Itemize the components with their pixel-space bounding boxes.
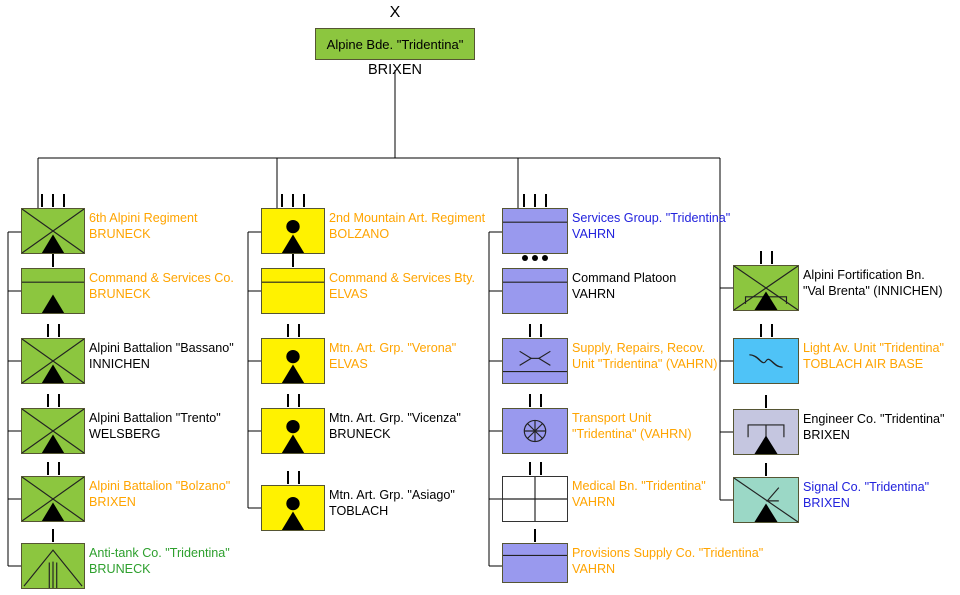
brigade-location: BRIXEN [315,62,475,78]
echelon-bar [281,194,283,207]
unit-name: Mtn. Art. Grp. "Asiago" [329,488,455,504]
echelon-bar [47,324,49,337]
echelon-bar [529,462,531,475]
unit-label: Alpini Battalion "Bolzano"BRIXEN [89,479,230,510]
unit-symbol-transport[interactable] [502,408,568,454]
unit-location: BRUNECK [89,227,198,243]
unit-name: Alpini Fortification Bn. [803,268,943,284]
echelon-bar [534,529,536,542]
unit-name: Transport Unit [572,411,692,427]
echelon-bar [292,194,294,207]
echelon-battalion-bars [287,471,300,484]
echelon-bar [298,471,300,484]
echelon-regiment-bars [281,194,305,207]
unit-label: Alpini Battalion "Trento"WELSBERG [89,411,221,442]
echelon-bar [303,194,305,207]
echelon-bar [540,394,542,407]
unit-symbol-engineer-mountain[interactable] [733,409,799,455]
echelon-company-bars [52,254,54,267]
echelon-company-bars [292,254,294,267]
unit-symbol-infantry-mountain[interactable] [21,408,85,454]
echelon-bar [58,394,60,407]
unit-name: Command Platoon [572,271,676,287]
echelon-regiment-bars [41,194,65,207]
echelon-company-bars [765,395,767,408]
unit-name: Mtn. Art. Grp. "Verona" [329,341,456,357]
unit-label: Light Av. Unit "Tridentina"TOBLACH AIR B… [803,341,944,372]
unit-symbol-aviation[interactable] [733,338,799,384]
unit-location: ELVAS [329,357,456,373]
echelon-regiment-bars [523,194,547,207]
echelon-bar [63,194,65,207]
unit-name: Light Av. Unit "Tridentina" [803,341,944,357]
unit-symbol-headquarters-plain[interactable] [502,268,568,314]
unit-location: BRUNECK [89,562,230,578]
echelon-bar [47,394,49,407]
unit-location: BOLZANO [329,227,485,243]
unit-label: Supply, Repairs, Recov.Unit "Tridentina"… [572,341,717,372]
unit-location: INNICHEN [89,357,234,373]
unit-symbol-headquarters-plain[interactable] [502,543,568,583]
unit-label: Anti-tank Co. "Tridentina"BRUNECK [89,546,230,577]
unit-name: Anti-tank Co. "Tridentina" [89,546,230,562]
unit-location: BRIXEN [803,496,929,512]
echelon-bar [765,463,767,476]
unit-location: "Tridentina" (VAHRN) [572,427,692,443]
unit-label: Command & Services Co.BRUNECK [89,271,234,302]
unit-symbol-artillery-mountain[interactable] [261,485,325,531]
echelon-bar [529,394,531,407]
unit-label: Provisions Supply Co. "Tridentina"VAHRN [572,546,763,577]
unit-label: Services Group. "Tridentina"VAHRN [572,211,730,242]
unit-label: Alpini Battalion "Bassano"INNICHEN [89,341,234,372]
unit-symbol-artillery-mountain[interactable] [261,338,325,384]
unit-name: 6th Alpini Regiment [89,211,198,227]
unit-name: Command & Services Bty. [329,271,475,287]
unit-label: Command & Services Bty.ELVAS [329,271,475,302]
echelon-company-bars [765,463,767,476]
echelon-battalion-bars [529,324,542,337]
unit-location: "Val Brenta" (INNICHEN) [803,284,943,300]
echelon-battalion-bars [529,394,542,407]
unit-name: 2nd Mountain Art. Regiment [329,211,485,227]
unit-location: VAHRN [572,287,676,303]
unit-label: Signal Co. "Tridentina"BRIXEN [803,480,929,511]
echelon-bar [298,394,300,407]
echelon-bar [760,324,762,337]
echelon-bar [52,529,54,542]
echelon-bar [765,395,767,408]
unit-label: Transport Unit"Tridentina" (VAHRN) [572,411,692,442]
unit-symbol-infantry-mountain[interactable] [21,476,85,522]
unit-location: VAHRN [572,562,763,578]
unit-symbol-medical[interactable] [502,476,568,522]
unit-symbol-headquarters-plain[interactable] [261,268,325,314]
echelon-bar [760,251,762,264]
unit-location: VAHRN [572,495,706,511]
unit-label: Mtn. Art. Grp. "Verona"ELVAS [329,341,456,372]
echelon-bar [287,394,289,407]
unit-name: Provisions Supply Co. "Tridentina" [572,546,763,562]
unit-symbol-artillery-mountain[interactable] [261,208,325,254]
unit-location: BRIXEN [89,495,230,511]
unit-label: Alpini Fortification Bn."Val Brenta" (IN… [803,268,943,299]
echelon-battalion-bars [47,394,60,407]
echelon-dot [542,255,548,261]
echelon-bar [292,254,294,267]
unit-name: Alpini Battalion "Bassano" [89,341,234,357]
echelon-company-bars [52,529,54,542]
unit-location: BRIXEN [803,428,944,444]
echelon-bar [41,194,43,207]
unit-symbol-fortification-mountain[interactable] [733,265,799,311]
unit-symbol-headquarters-mountain[interactable] [21,268,85,314]
org-chart: X Alpine Bde. "Tridentina" BRIXEN 6th Al… [0,0,960,595]
unit-label: Mtn. Art. Grp. "Asiago"TOBLACH [329,488,455,519]
brigade-box[interactable]: Alpine Bde. "Tridentina" [315,28,475,60]
unit-location: VAHRN [572,227,730,243]
unit-symbol-signal-mountain[interactable] [733,477,799,523]
unit-name: Mtn. Art. Grp. "Vicenza" [329,411,461,427]
echelon-battalion-bars [529,462,542,475]
unit-label: Medical Bn. "Tridentina"VAHRN [572,479,706,510]
unit-location: TOBLACH [329,504,455,520]
echelon-bar [771,251,773,264]
unit-name: Services Group. "Tridentina" [572,211,730,227]
echelon-battalion-bars [47,324,60,337]
unit-name: Supply, Repairs, Recov. [572,341,717,357]
echelon-bar [540,462,542,475]
echelon-bar [52,254,54,267]
echelon-bar [58,462,60,475]
echelon-bar [545,194,547,207]
echelon-bar [534,194,536,207]
unit-symbol-maintenance[interactable] [502,338,568,384]
echelon-bar [58,324,60,337]
unit-symbol-infantry-mountain[interactable] [21,338,85,384]
unit-symbol-infantry-mountain[interactable] [21,208,85,254]
unit-location: BRUNECK [89,287,234,303]
echelon-bar [529,324,531,337]
echelon-battalion-bars [287,324,300,337]
echelon-bar [287,324,289,337]
unit-location: BRUNECK [329,427,461,443]
unit-location: WELSBERG [89,427,221,443]
echelon-bar [47,462,49,475]
echelon-bar [287,471,289,484]
unit-label: 6th Alpini RegimentBRUNECK [89,211,198,242]
unit-name: Alpini Battalion "Trento" [89,411,221,427]
echelon-platoon-dots [522,255,548,261]
echelon-bar [771,324,773,337]
unit-name: Alpini Battalion "Bolzano" [89,479,230,495]
unit-location: ELVAS [329,287,475,303]
echelon-dot [532,255,538,261]
echelon-bar [523,194,525,207]
echelon-battalion-bars [287,394,300,407]
unit-name: Medical Bn. "Tridentina" [572,479,706,495]
unit-location: TOBLACH AIR BASE [803,357,944,373]
unit-symbol-antitank[interactable] [21,543,85,589]
unit-symbol-artillery-mountain[interactable] [261,408,325,454]
unit-label: Engineer Co. "Tridentina"BRIXEN [803,412,944,443]
unit-label: 2nd Mountain Art. RegimentBOLZANO [329,211,485,242]
unit-label: Mtn. Art. Grp. "Vicenza"BRUNECK [329,411,461,442]
echelon-battalion-bars [760,324,773,337]
echelon-company-bars [534,529,536,542]
echelon-battalion-bars [47,462,60,475]
unit-location: Unit "Tridentina" (VAHRN) [572,357,717,373]
unit-label: Command PlatoonVAHRN [572,271,676,302]
unit-name: Engineer Co. "Tridentina" [803,412,944,428]
echelon-bar [298,324,300,337]
echelon-battalion-bars [760,251,773,264]
unit-symbol-headquarters-plain[interactable] [502,208,568,254]
brigade-echelon-symbol: X [315,4,475,22]
echelon-bar [52,194,54,207]
unit-name: Command & Services Co. [89,271,234,287]
echelon-dot [522,255,528,261]
echelon-bar [540,324,542,337]
unit-name: Signal Co. "Tridentina" [803,480,929,496]
